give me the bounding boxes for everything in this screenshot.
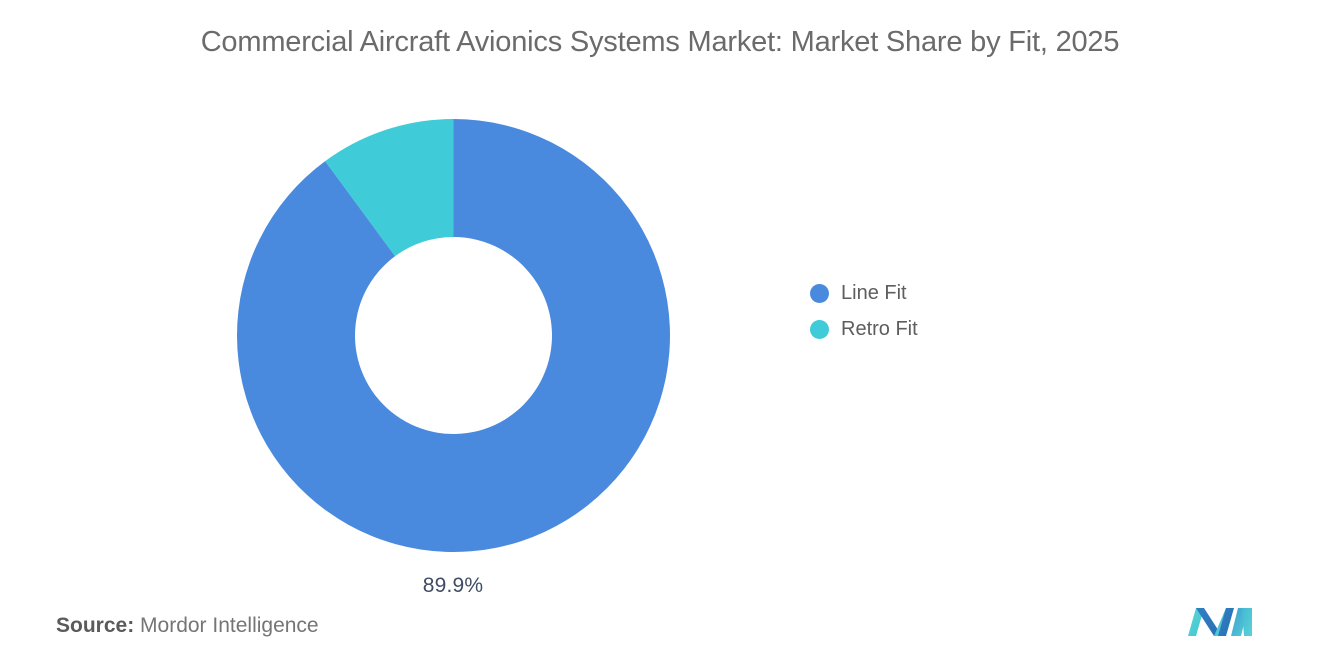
donut-chart: 89.9%	[237, 119, 670, 552]
legend-item-label: Retro Fit	[841, 319, 918, 339]
legend-item-retro-fit[interactable]: Retro Fit	[810, 318, 918, 340]
legend-color-swatch-icon	[810, 284, 829, 303]
mordor-intelligence-logo-icon	[1186, 596, 1256, 640]
source-attribution: Source: Mordor Intelligence	[56, 614, 319, 638]
source-value: Mordor Intelligence	[134, 614, 318, 637]
source-label: Source:	[56, 614, 134, 637]
data-label-line-fit: 89.9%	[383, 574, 523, 598]
donut-chart-svg	[237, 119, 670, 552]
chart-legend: Line Fit Retro Fit	[810, 282, 918, 340]
page-title: Commercial Aircraft Avionics Systems Mar…	[0, 26, 1320, 59]
legend-color-swatch-icon	[810, 320, 829, 339]
logo-svg	[1186, 596, 1256, 640]
legend-item-line-fit[interactable]: Line Fit	[810, 282, 918, 304]
legend-item-label: Line Fit	[841, 283, 907, 303]
